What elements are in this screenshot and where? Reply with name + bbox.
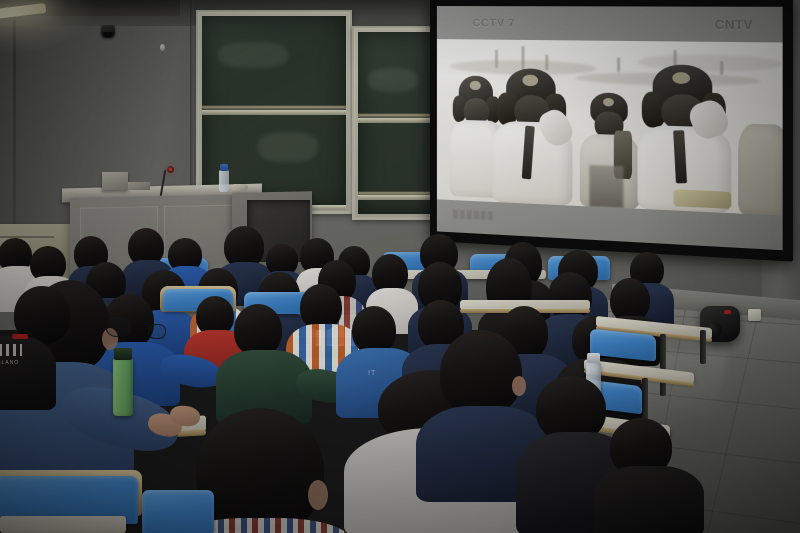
wall-outlet-icon: [748, 309, 761, 321]
jacket-logo-text: MILANO: [0, 360, 19, 366]
desk-surface: [0, 516, 126, 533]
wall-speaker-icon: [101, 25, 115, 38]
jacket-logo-text: IT: [368, 370, 376, 377]
microphone-indicator-led: [169, 168, 172, 171]
broadcast-soldier: [492, 68, 572, 206]
podium-object: [232, 184, 248, 191]
backpack-accent: [724, 310, 731, 314]
lecture-hall-photo: CCTV 7 CNTV ██████: [0, 0, 800, 533]
chalkboard-right-surface: [358, 32, 438, 214]
podium-water-bottle: [219, 170, 229, 192]
green-water-bottle-cap: [114, 348, 132, 360]
control-box-tray: [128, 182, 150, 190]
podium-water-bottle-cap: [220, 164, 228, 171]
control-box: [102, 172, 128, 190]
screen-surface: CCTV 7 CNTV ██████: [437, 6, 783, 250]
wall-fixture: [160, 44, 165, 51]
seat[interactable]: [142, 490, 214, 533]
projection-screen: CCTV 7 CNTV ██████: [430, 0, 793, 262]
clear-water-bottle-cap: [587, 353, 600, 363]
broadcast-soldier: [738, 102, 782, 216]
cctv-channel-logo: CCTV 7: [472, 17, 515, 29]
broadcast-caption: ██████: [453, 211, 495, 220]
projected-broadcast-image: [437, 39, 783, 216]
green-water-bottle: [113, 358, 133, 416]
cntv-channel-logo: CNTV: [715, 17, 753, 32]
